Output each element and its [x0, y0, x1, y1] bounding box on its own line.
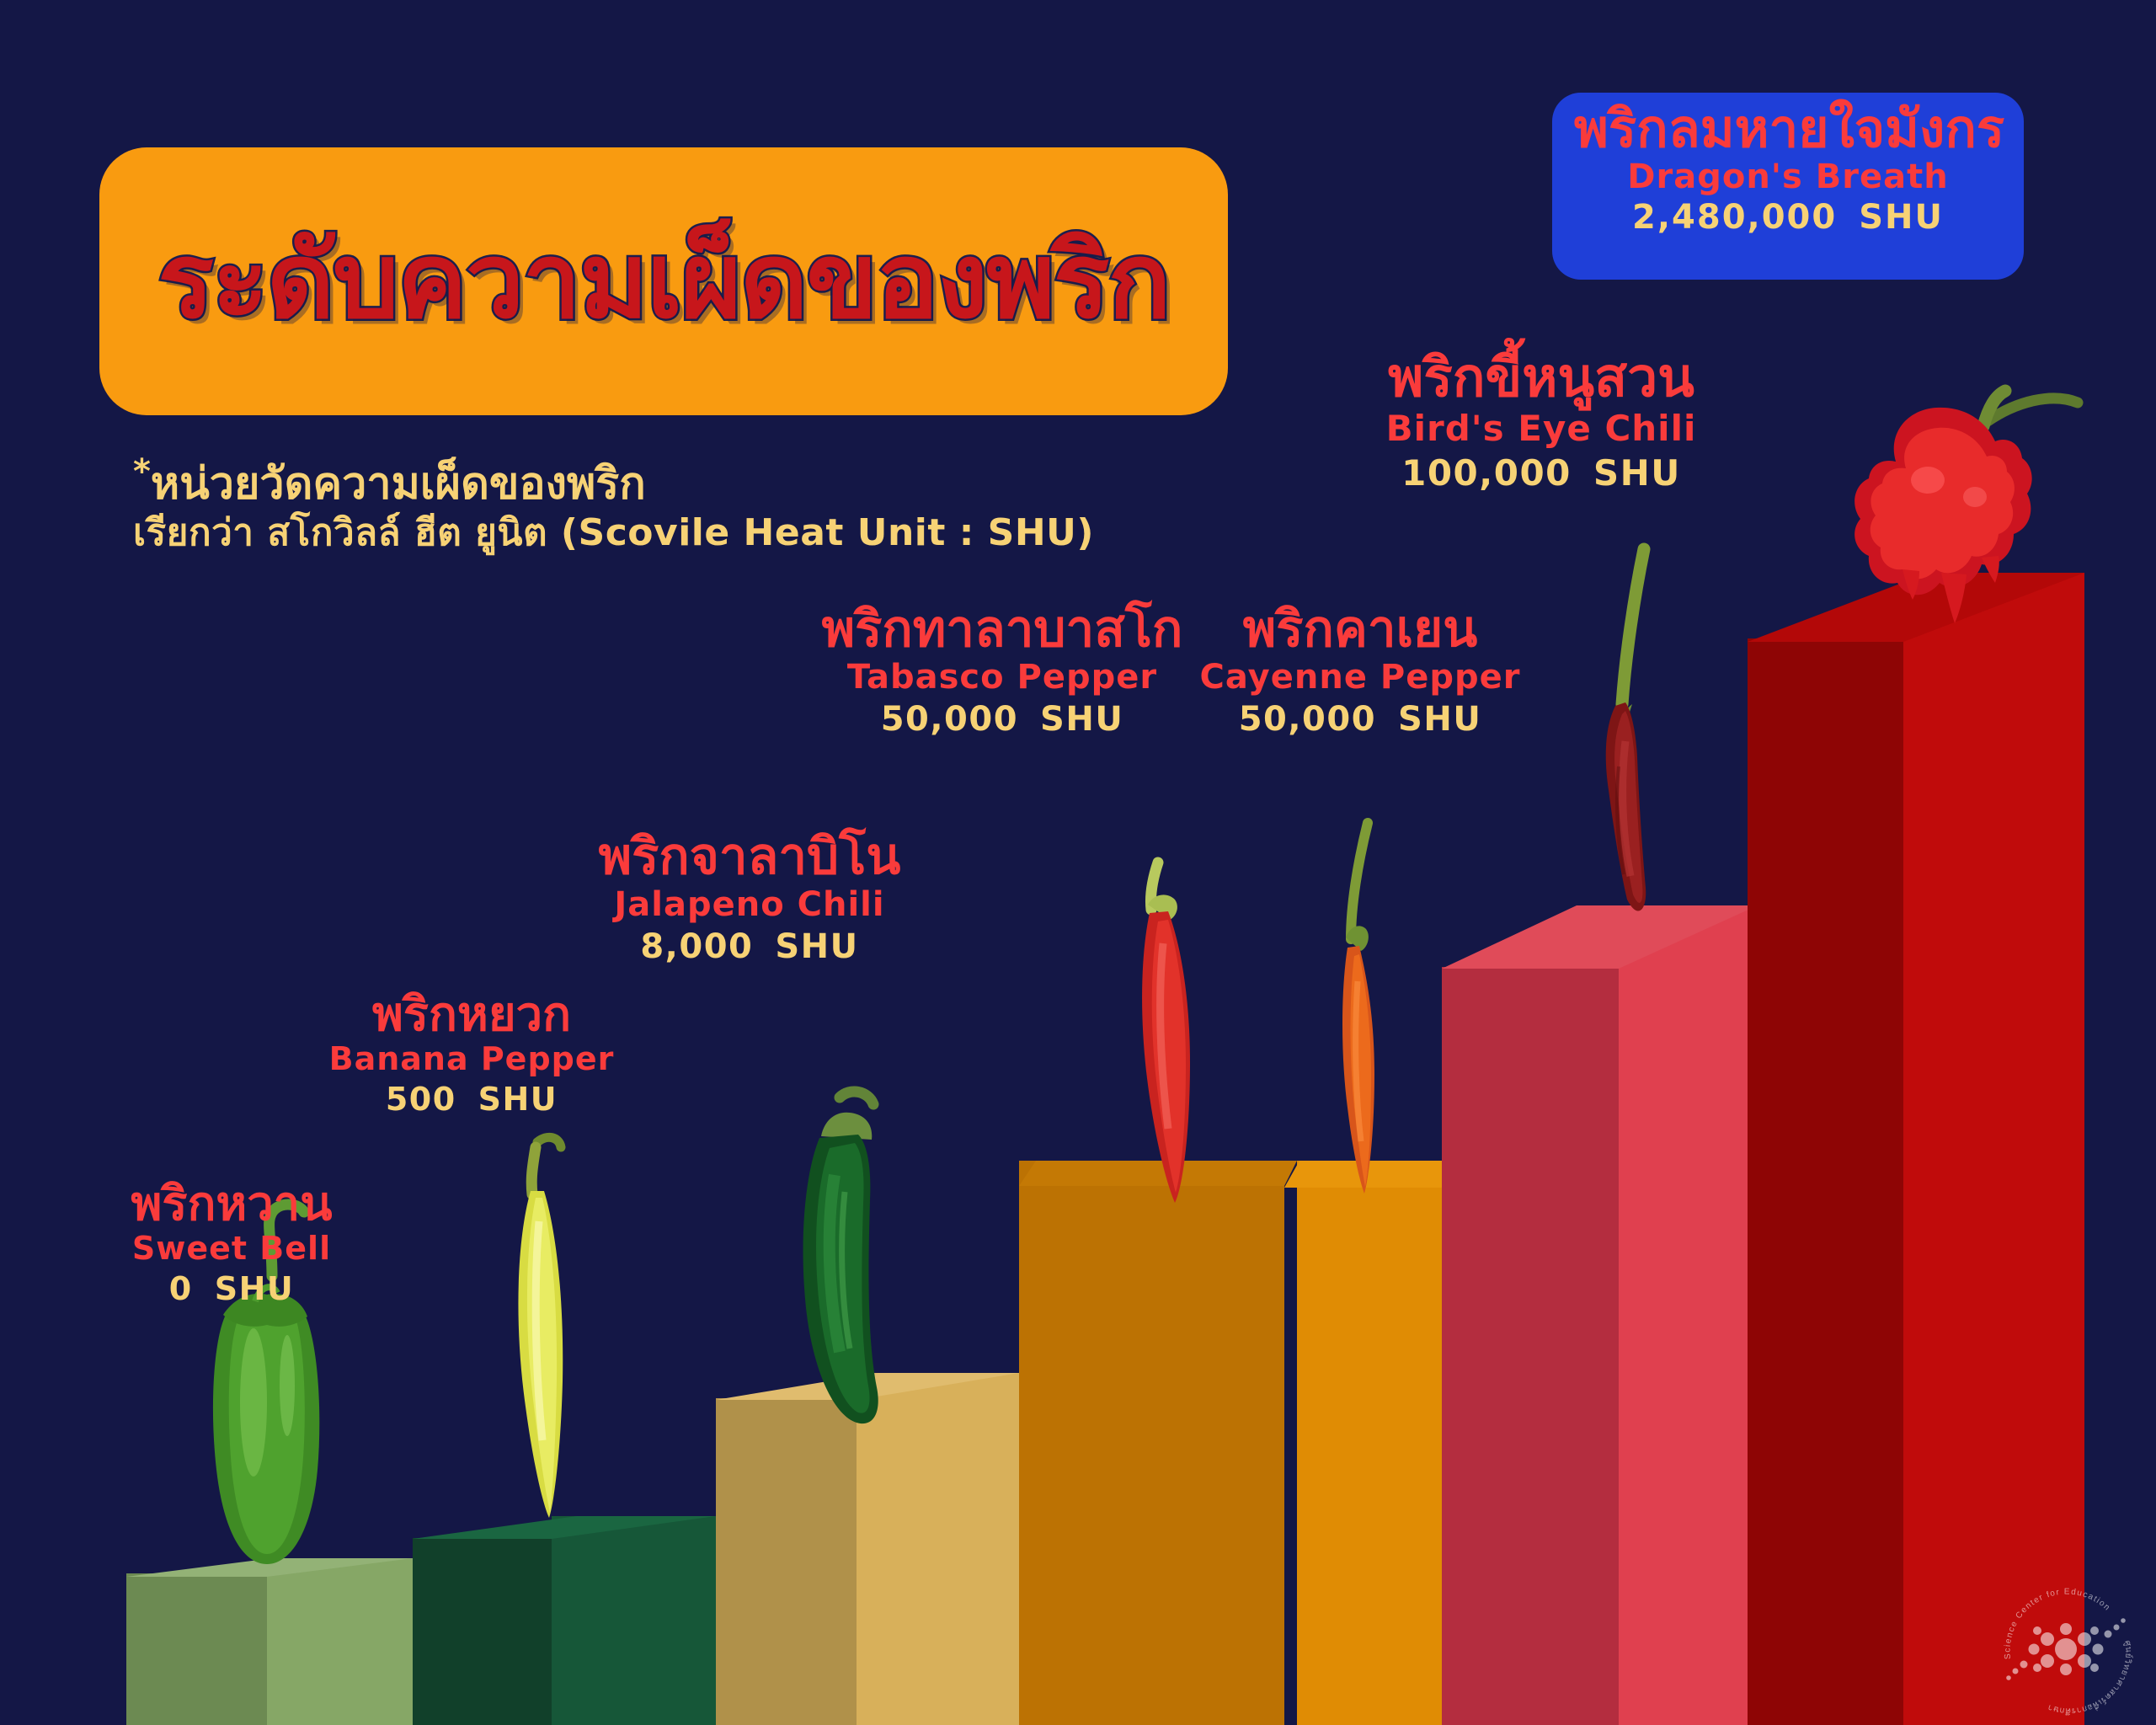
bar-dragons-breath — [1748, 573, 2084, 1725]
pepper-birds-eye-dark-red — [1566, 539, 1684, 931]
label-english: Cayenne Pepper — [1196, 657, 1524, 697]
label-value: 500SHU — [312, 1079, 632, 1120]
bar-banana-pepper — [413, 1516, 716, 1725]
label-shu-unit: SHU — [215, 1270, 295, 1307]
scoville-note: *หน่วยวัดความเผ็ดของพริก เรียกว่า สโกวิล… — [133, 453, 1094, 557]
label-shu-number: 50,000 — [1239, 700, 1376, 739]
bar-side-face — [1748, 638, 1903, 1725]
label-thai: พริกทาลาบาสโก — [821, 602, 1183, 657]
label-value: 50,000SHU — [821, 697, 1183, 741]
label-shu-number: 8,000 — [640, 927, 753, 966]
science-center-logo-watermark: Science Center for Education ศูนย์วิทยาศ… — [1997, 1582, 2136, 1717]
bar-side-face — [126, 1573, 267, 1725]
bar-front-face — [1619, 905, 1758, 1725]
label-value: 100,000SHU — [1356, 451, 1726, 497]
label-thai: พริกจาลาบิโน — [573, 830, 926, 884]
label-english: Bird's Eye Chili — [1356, 408, 1726, 450]
bar-front-face — [1297, 1161, 1465, 1725]
label-thai: พริกคาเยน — [1196, 602, 1524, 657]
label-sweet-bell: พริกหวาน Sweet Bell 0SHU — [88, 1179, 375, 1310]
label-shu-number: 100,000 — [1401, 452, 1572, 494]
dragons-breath-value: 2,480,000SHU — [1574, 196, 2002, 238]
label-value: 50,000SHU — [1196, 697, 1524, 741]
label-english: Jalapeno Chili — [573, 884, 926, 925]
label-value: 8,000SHU — [573, 925, 926, 969]
label-english: Sweet Bell — [88, 1230, 375, 1268]
label-shu-number: 50,000 — [881, 700, 1018, 739]
label-english: Tabasco Pepper — [821, 657, 1183, 697]
pepper-dragons-breath-red — [1815, 371, 2093, 640]
bar-tabasco — [1019, 1161, 1297, 1725]
pepper-tabasco-red — [1116, 851, 1225, 1221]
label-birds-eye: พริกขี้หนูสวน Bird's Eye Chili 100,000SH… — [1356, 350, 1726, 496]
label-english: Banana Pepper — [312, 1040, 632, 1079]
bar-front-face — [552, 1516, 716, 1725]
label-cayenne: พริกคาเยน Cayenne Pepper 50,000SHU — [1196, 602, 1524, 741]
asterisk-icon: * — [133, 452, 151, 491]
title-banner: ระดับความเผ็ดของพริก — [99, 147, 1228, 415]
label-thai: พริกหวาน — [88, 1179, 375, 1230]
bar-cayenne — [1284, 1161, 1465, 1725]
label-tabasco: พริกทาลาบาสโก Tabasco Pepper 50,000SHU — [821, 602, 1183, 741]
label-value: 0SHU — [88, 1268, 375, 1310]
bar-side-face — [413, 1538, 552, 1725]
dragons-breath-shu-number: 2,480,000 — [1632, 198, 1837, 237]
dragons-breath-thai-name: พริกลมหายใจมังกร — [1574, 101, 2002, 158]
label-jalapeno: พริกจาลาบิโน Jalapeno Chili 8,000SHU — [573, 830, 926, 969]
pepper-cayenne-orange — [1314, 813, 1406, 1196]
dragons-breath-english-name: Dragon's Breath — [1574, 158, 2002, 196]
label-banana-pepper: พริกหยวก Banana Pepper 500SHU — [312, 990, 632, 1120]
bar-side-face — [1442, 967, 1619, 1725]
label-shu-unit: SHU — [1040, 700, 1123, 739]
bar-front-face — [1903, 573, 2084, 1725]
bar-front-face — [1019, 1161, 1284, 1725]
pepper-jalapeno-dark-green — [762, 1082, 931, 1432]
bar-birds-eye — [1442, 905, 1758, 1725]
scoville-note-line2: เรียกว่า สโกวิลล์ ฮีต ยูนิต (Scovile Hea… — [133, 509, 1094, 557]
dragons-breath-callout-box: พริกลมหายใจมังกร Dragon's Breath 2,480,0… — [1552, 93, 2024, 280]
label-thai: พริกหยวก — [312, 990, 632, 1040]
scoville-note-line1-text: หน่วยวัดความเผ็ดของพริก — [151, 458, 646, 509]
label-shu-number: 500 — [386, 1081, 456, 1118]
label-shu-unit: SHU — [1398, 700, 1481, 739]
label-shu-unit: SHU — [775, 927, 858, 966]
label-shu-unit: SHU — [478, 1081, 558, 1118]
bar-side-face — [716, 1398, 857, 1725]
label-shu-unit: SHU — [1593, 452, 1681, 494]
scoville-note-line1: *หน่วยวัดความเผ็ดของพริก — [133, 453, 1094, 509]
infographic-canvas: ระดับความเผ็ดของพริก พริกลมหายใจมังกร Dr… — [0, 0, 2156, 1725]
label-shu-number: 0 — [169, 1270, 193, 1307]
label-thai: พริกขี้หนูสวน — [1356, 350, 1726, 408]
dragons-breath-shu-unit: SHU — [1859, 198, 1944, 237]
page-title: ระดับความเผ็ดของพริก — [157, 229, 1169, 334]
pepper-banana-yellow — [488, 1129, 598, 1525]
